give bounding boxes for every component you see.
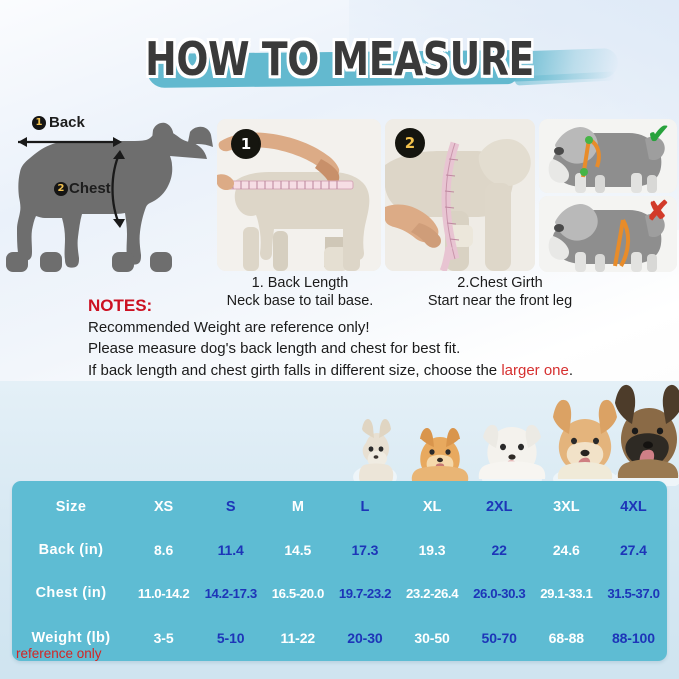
- notes-line-3-before: If back length and chest girth falls in …: [88, 362, 501, 379]
- dog-breed-photo-band: [0, 381, 679, 486]
- row-label-chest: Chest (in): [12, 585, 130, 601]
- header-size-3xl: 3XL: [533, 499, 600, 515]
- dog-silhouette-diagram: 1 Back 2 Chest: [2, 112, 214, 277]
- table-row-chest: Chest (in) 11.0-14.2 14.2-17.3 16.5-20.0…: [12, 576, 667, 610]
- back-label-text: Back: [49, 114, 85, 131]
- dog-photo-chihuahua: [353, 419, 397, 486]
- back-xs: 8.6: [130, 542, 197, 558]
- table-row-back: Back (in) 8.6 11.4 14.5 17.3 19.3 22 24.…: [12, 533, 667, 567]
- chest-4xl: 31.5-37.0: [600, 586, 667, 601]
- photo-correct-example: ✔: [539, 119, 677, 193]
- table-header-row: Size XS S M L XL 2XL 3XL 4XL: [12, 489, 667, 525]
- chest-l: 19.7-23.2: [331, 586, 398, 601]
- row-label-weight: Weight (lb): [12, 630, 130, 646]
- photo-back-length: 1: [217, 119, 381, 271]
- weight-4xl: 88-100: [600, 630, 667, 646]
- table-row-weight: Weight (lb) 3-5 5-10 11-22 20-30 30-50 5…: [12, 621, 667, 655]
- caption-step-1-line1: 1. Back Length: [205, 274, 395, 292]
- dog-photo-corgi: [553, 400, 617, 486]
- notes-line-1: Recommended Weight are reference only!: [88, 317, 573, 339]
- header-size-xs: XS: [130, 499, 197, 515]
- incorrect-cross-icon: ✘: [646, 198, 669, 225]
- header-size-m: M: [264, 499, 331, 515]
- notes-line-3-after: .: [569, 362, 573, 379]
- chest-s: 14.2-17.3: [197, 586, 264, 601]
- notes-line-3-highlight: larger one: [501, 362, 569, 379]
- chest-measure-label: 2 Chest: [54, 180, 111, 197]
- weight-3xl: 68-88: [533, 630, 600, 646]
- photo-incorrect-example: ✘: [539, 196, 677, 272]
- header-size-xl: XL: [399, 499, 466, 515]
- correct-check-icon: ✔: [647, 121, 670, 148]
- dog-photo-pomeranian: [412, 428, 469, 486]
- dog-photo-bichon: [479, 425, 545, 486]
- chest-label-text: Chest: [69, 180, 111, 197]
- step-1-badge: 1: [231, 129, 261, 159]
- photo-chest-girth: 2: [385, 119, 535, 271]
- back-measure-label: 1 Back: [32, 114, 85, 131]
- header-size-2xl: 2XL: [466, 499, 533, 515]
- chest-xs: 11.0-14.2: [130, 586, 197, 601]
- notes-block: NOTES: Recommended Weight are reference …: [88, 296, 573, 382]
- notes-line-2: Please measure dog's back length and che…: [88, 338, 573, 360]
- header-size-4xl: 4XL: [600, 499, 667, 515]
- back-s: 11.4: [197, 542, 264, 558]
- dog-photo-german-shepherd: [614, 385, 679, 486]
- table-footnote: reference only: [16, 647, 102, 661]
- weight-2xl: 50-70: [466, 630, 533, 646]
- size-table: Size XS S M L XL 2XL 3XL 4XL Back (in) 8…: [12, 481, 667, 661]
- chest-m: 16.5-20.0: [264, 586, 331, 601]
- page-title: HOW TO MEASURE: [61, 36, 618, 82]
- back-4xl: 27.4: [600, 542, 667, 558]
- header-label-size: Size: [12, 499, 130, 515]
- step-2-badge: 2: [395, 128, 425, 158]
- how-to-measure-section: HOW TO MEASURE 1: [0, 0, 679, 381]
- dog-breed-photos: [0, 381, 679, 486]
- weight-s: 5-10: [197, 630, 264, 646]
- back-2xl: 22: [466, 542, 533, 558]
- notes-title: NOTES:: [88, 296, 573, 316]
- header-size-s: S: [197, 499, 264, 515]
- row-label-back: Back (in): [12, 542, 130, 558]
- back-l: 17.3: [331, 542, 398, 558]
- caption-step-2-line1: 2.Chest Girth: [400, 274, 600, 292]
- notes-line-3: If back length and chest girth falls in …: [88, 360, 573, 382]
- weight-m: 11-22: [264, 630, 331, 646]
- chest-2xl: 26.0-30.3: [466, 586, 533, 601]
- weight-xs: 3-5: [130, 630, 197, 646]
- back-xl: 19.3: [399, 542, 466, 558]
- weight-l: 20-30: [331, 630, 398, 646]
- weight-xl: 30-50: [399, 630, 466, 646]
- chest-xl: 23.2-26.4: [399, 586, 466, 601]
- header-size-l: L: [331, 499, 398, 515]
- back-3xl: 24.6: [533, 542, 600, 558]
- chest-3xl: 29.1-33.1: [533, 586, 600, 601]
- size-chart-page: HOW TO MEASURE 1: [0, 0, 679, 679]
- back-number-badge: 1: [32, 116, 46, 130]
- size-table-section: Size XS S M L XL 2XL 3XL 4XL Back (in) 8…: [0, 381, 679, 679]
- page-title-area: HOW TO MEASURE: [0, 36, 679, 98]
- back-m: 14.5: [264, 542, 331, 558]
- chest-number-badge: 2: [54, 182, 68, 196]
